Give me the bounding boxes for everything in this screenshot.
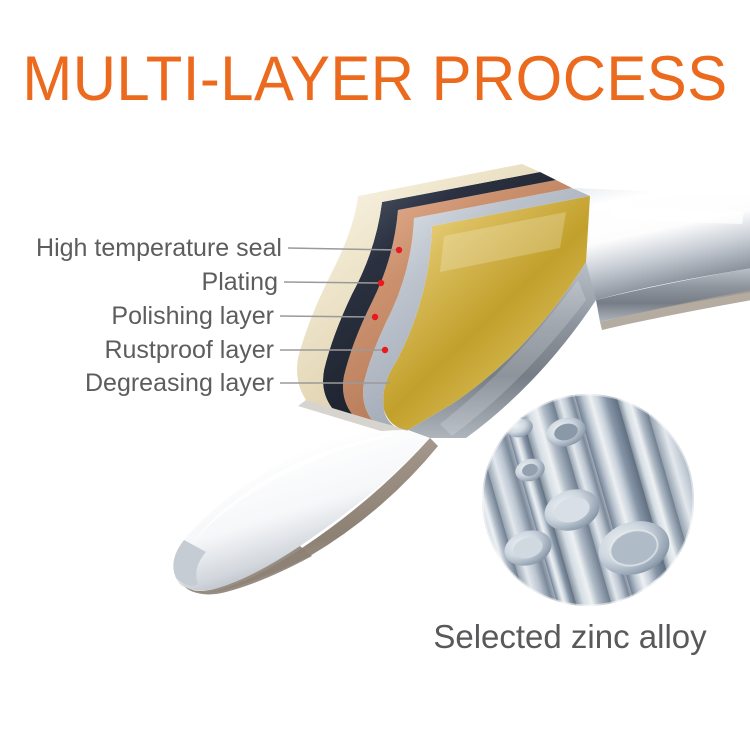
- callout-label-degreasing-layer: Degreasing layer: [0, 371, 274, 396]
- callout-label-rustproof-layer: Rustproof layer: [0, 338, 274, 363]
- faucet-handle: [173, 430, 438, 594]
- callout-label-polishing-layer: Polishing layer: [0, 304, 274, 329]
- callout-label-high-temperature-seal: High temperature seal: [0, 236, 282, 261]
- layer-stack: [297, 164, 590, 438]
- callout-label-plating: Plating: [0, 270, 278, 295]
- infographic-canvas: MULTI-LAYER PROCESS: [0, 0, 750, 750]
- callout-marker-1: [378, 280, 384, 286]
- zinc-alloy-caption: Selected zinc alloy: [400, 620, 740, 653]
- faucet-upper-arm: [572, 188, 750, 330]
- callout-marker-2: [372, 314, 378, 320]
- callout-marker-3: [382, 347, 388, 353]
- callout-marker-0: [396, 247, 402, 253]
